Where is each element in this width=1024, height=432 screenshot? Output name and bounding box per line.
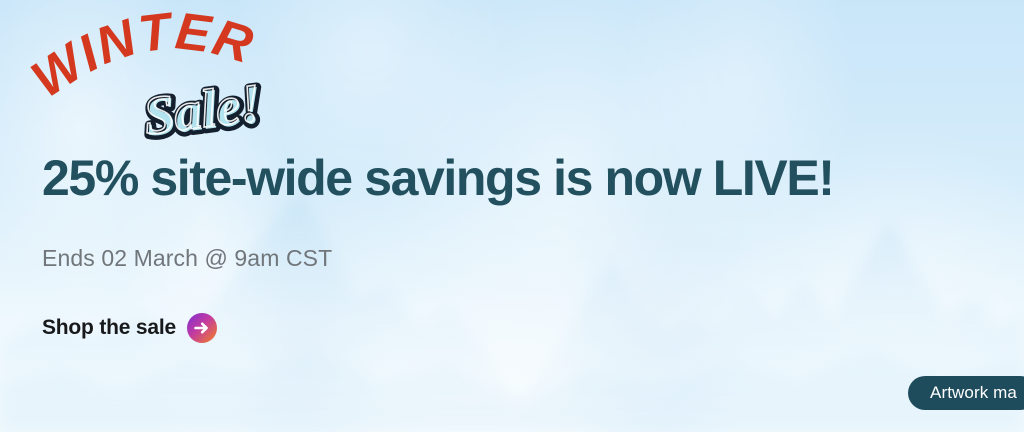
shop-the-sale-link[interactable]: Shop the sale (42, 313, 217, 343)
arrow-right-circle-icon (187, 313, 217, 343)
winter-sale-logo: WINTER Sale! Sale! Sale! (36, 30, 346, 150)
artwork-attribution-pill[interactable]: Artwork ma (908, 376, 1024, 410)
artwork-attribution-label: Artwork ma (930, 383, 1017, 403)
page-title: 25% site-wide savings is now LIVE! (42, 152, 834, 204)
shop-the-sale-label: Shop the sale (42, 316, 176, 340)
winter-sale-banner: WINTER Sale! Sale! Sale! 25% site-wide s… (0, 0, 1024, 432)
sale-end-text: Ends 02 March @ 9am CST (42, 245, 332, 272)
